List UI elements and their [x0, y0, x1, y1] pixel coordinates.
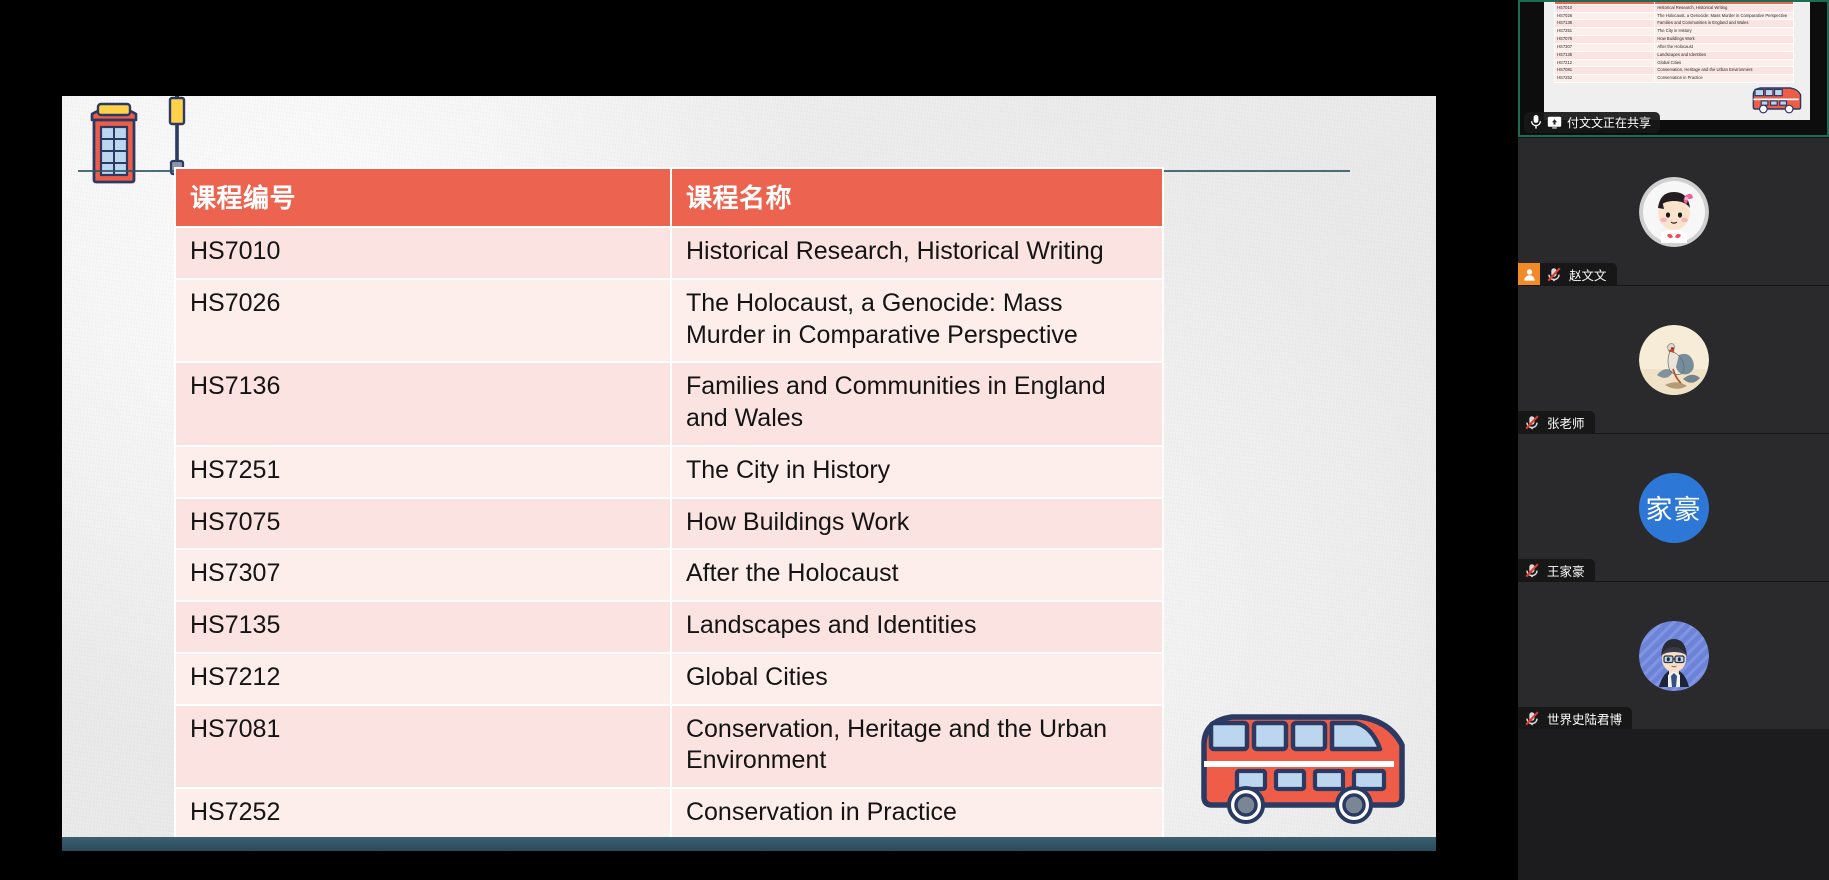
mic-muted-icon[interactable] [1522, 559, 1542, 581]
slide-footer-bar [62, 837, 1436, 851]
cell-course-name: The City in History [671, 446, 1163, 498]
thumb-cell-course-code: HS7075 [1555, 36, 1655, 44]
thumb-cell-course-name: The City in History [1655, 28, 1794, 36]
shared-screen-thumbnail[interactable]: 课程编号 课程名称 HS7010Historical Research, His… [1518, 0, 1829, 137]
double-decker-bus-icon [1190, 693, 1408, 833]
cell-course-name: Families and Communities in England and … [671, 362, 1163, 446]
table-row: HS7010Historical Research, Historical Wr… [175, 227, 1163, 279]
thumb-cell-course-name: Global Cities [1655, 59, 1794, 67]
thumb-cell-course-name: How Buildings Work [1655, 36, 1794, 44]
avatar [1639, 177, 1709, 247]
thumbnail-table-row: HS7135Landscapes and Identities [1555, 51, 1794, 59]
thumb-cell-course-code: HS7136 [1555, 20, 1655, 28]
thumbnail-table-row: HS7075How Buildings Work [1555, 36, 1794, 44]
mic-muted-icon [1525, 415, 1539, 430]
cell-course-name: How Buildings Work [671, 498, 1163, 550]
cell-course-code: HS7252 [175, 788, 671, 840]
cell-course-name: After the Holocaust [671, 549, 1163, 601]
anime-glasses-avatar [1639, 621, 1709, 691]
thumb-cell-course-name: Conservation, Heritage and the Urban Env… [1655, 67, 1794, 75]
table-row: HS7081Conservation, Heritage and the Urb… [175, 705, 1163, 789]
mic-muted-icon[interactable] [1544, 263, 1564, 285]
cell-course-code: HS7307 [175, 549, 671, 601]
cell-course-code: HS7010 [175, 227, 671, 279]
thumb-cell-course-code: HS7251 [1555, 28, 1655, 36]
sharing-status-label: 付文文正在共享 [1567, 114, 1651, 131]
avatar [1639, 325, 1709, 395]
cell-course-code: HS7135 [175, 601, 671, 653]
table-row: HS7026The Holocaust, a Genocide: Mass Mu… [175, 279, 1163, 363]
thumb-cell-course-code: HS7010 [1555, 4, 1655, 12]
cell-course-code: HS7075 [175, 498, 671, 550]
mic-muted-icon [1525, 711, 1539, 726]
cell-course-code: HS7251 [175, 446, 671, 498]
presentation-slide: 课程编号 课程名称 HS7010Historical Research, His… [62, 96, 1436, 851]
thumb-cell-course-name: Historical Research, Historical Writing [1655, 4, 1794, 12]
table-row: HS7075How Buildings Work [175, 498, 1163, 550]
thumbnail-table-row: HS7136Families and Communities in Englan… [1555, 20, 1794, 28]
mic-muted-icon [1525, 563, 1539, 578]
thumbnail-table-row: HS7251The City in History [1555, 28, 1794, 36]
participant-tile[interactable]: 张老师 [1518, 285, 1829, 433]
avatar-initials: 家豪 [1639, 473, 1709, 543]
thumbnail-table-row: HS7081Conservation, Heritage and the Urb… [1555, 67, 1794, 75]
mic-muted-icon[interactable] [1522, 411, 1542, 433]
cell-course-name: Landscapes and Identities [671, 601, 1163, 653]
participant-tile[interactable]: 赵文文 [1518, 137, 1829, 285]
maruko-chan-avatar [1639, 177, 1709, 247]
crane-painting-avatar [1639, 325, 1709, 395]
thumbnail-table-row: HS7307After the Holocaust [1555, 43, 1794, 51]
mic-muted-icon[interactable] [1522, 707, 1542, 729]
cell-course-name: The Holocaust, a Genocide: Mass Murder i… [671, 279, 1163, 363]
microphone-icon [1530, 114, 1542, 130]
cell-course-name: Global Cities [671, 653, 1163, 705]
cell-course-code: HS7212 [175, 653, 671, 705]
participant-nameplate: 张老师 [1518, 411, 1595, 433]
thumbnail-slide-preview: 课程编号 课程名称 HS7010Historical Research, His… [1544, 0, 1810, 120]
cell-course-code: HS7081 [175, 705, 671, 789]
participant-name: 世界史陆君博 [1547, 709, 1622, 728]
cell-course-name: Conservation in Practice [671, 788, 1163, 840]
avatar [1639, 621, 1709, 691]
thumb-cell-course-name: The Holocaust, a Genocide: Mass Murder i… [1655, 12, 1794, 20]
cell-course-code: HS7136 [175, 362, 671, 446]
thumbnail-table-row: HS7010Historical Research, Historical Wr… [1555, 4, 1794, 12]
table-row: HS7212Global Cities [175, 653, 1163, 705]
participant-tile[interactable]: 家豪 王家豪 [1518, 433, 1829, 581]
table-row: HS7136Families and Communities in Englan… [175, 362, 1163, 446]
table-header-row: 课程编号 课程名称 [175, 168, 1163, 227]
sharing-status-badge: 付文文正在共享 [1524, 112, 1660, 133]
thumbnail-bus-icon [1750, 82, 1802, 116]
participant-nameplate: 世界史陆君博 [1518, 707, 1632, 729]
thumb-cell-course-name: Landscapes and Identities [1655, 51, 1794, 59]
column-header-course-name: 课程名称 [671, 168, 1163, 227]
host-badge-icon [1518, 263, 1540, 285]
thumbnail-table-row: HS7026The Holocaust, a Genocide: Mass Mu… [1555, 12, 1794, 20]
table-row: HS7251The City in History [175, 446, 1163, 498]
participant-name: 张老师 [1547, 413, 1585, 432]
thumb-cell-course-code: HS7252 [1555, 75, 1655, 83]
host-person-icon [1523, 268, 1536, 281]
cell-course-name: Conservation, Heritage and the Urban Env… [671, 705, 1163, 789]
participant-name: 王家豪 [1547, 561, 1585, 580]
participant-tile-list: 赵文文 张老师家豪 王家豪 [1518, 137, 1829, 729]
table-row: HS7252Conservation in Practice [175, 788, 1163, 840]
mic-muted-icon [1547, 267, 1561, 282]
participants-sidebar: 课程编号 课程名称 HS7010Historical Research, His… [1518, 0, 1829, 880]
thumb-cell-course-name: After the Holocaust [1655, 43, 1794, 51]
cell-course-name: Historical Research, Historical Writing [671, 227, 1163, 279]
avatar: 家豪 [1639, 473, 1709, 543]
participant-tile[interactable]: 世界史陆君博 [1518, 581, 1829, 729]
column-header-course-code: 课程编号 [175, 168, 671, 227]
table-row: HS7135Landscapes and Identities [175, 601, 1163, 653]
thumb-cell-course-code: HS7212 [1555, 59, 1655, 67]
thumb-cell-course-code: HS7307 [1555, 43, 1655, 51]
table-row: HS7307After the Holocaust [175, 549, 1163, 601]
thumbnail-table-row: HS7212Global Cities [1555, 59, 1794, 67]
course-table: 课程编号 课程名称 HS7010Historical Research, His… [174, 167, 1164, 841]
thumbnail-course-table: 课程编号 课程名称 HS7010Historical Research, His… [1554, 0, 1794, 83]
cell-course-code: HS7026 [175, 279, 671, 363]
thumb-cell-course-code: HS7081 [1555, 67, 1655, 75]
thumb-cell-course-code: HS7135 [1555, 51, 1655, 59]
participant-name: 赵文文 [1569, 265, 1607, 284]
participant-nameplate: 王家豪 [1518, 559, 1595, 581]
zoom-meeting-window: 课程编号 课程名称 HS7010Historical Research, His… [0, 0, 1829, 880]
thumb-cell-course-name: Families and Communities in England and … [1655, 20, 1794, 28]
shared-screen-stage[interactable]: 课程编号 课程名称 HS7010Historical Research, His… [0, 0, 1518, 880]
participant-nameplate: 赵文文 [1518, 263, 1617, 285]
screen-share-icon [1547, 116, 1562, 129]
thumb-cell-course-code: HS7026 [1555, 12, 1655, 20]
